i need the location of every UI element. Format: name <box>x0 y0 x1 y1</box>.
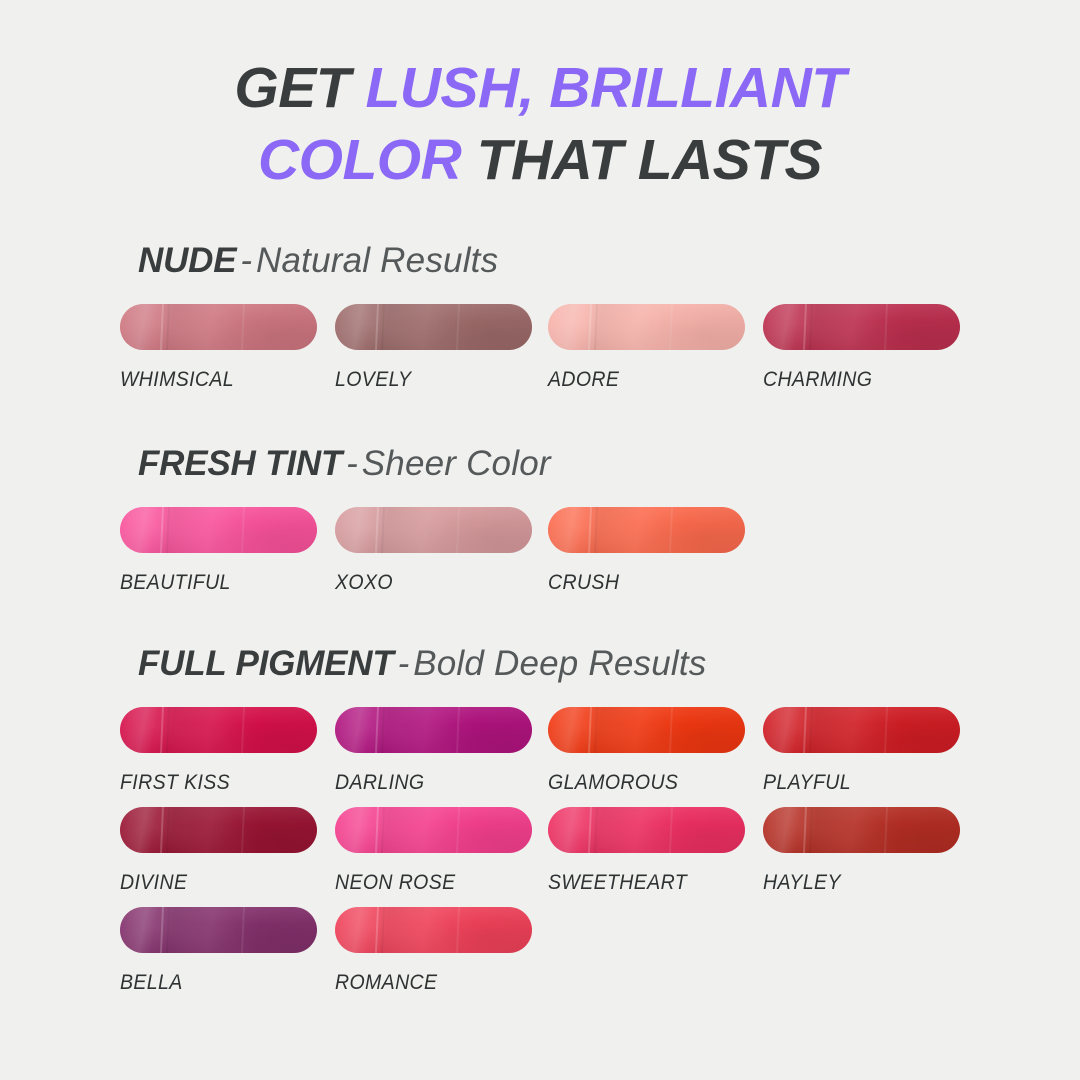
swatch-label: BEAUTIFUL <box>120 571 303 595</box>
section-title-fresh-tint: FRESH TINT <box>138 444 342 483</box>
swatch-cell-charming[interactable]: CHARMING <box>763 304 960 392</box>
section-dash-fresh-tint: - <box>342 444 362 483</box>
swatch-grid-nude: WHIMSICAL LOVELY <box>0 304 1080 404</box>
swatch-cell-playful[interactable]: PLAYFUL <box>763 707 960 795</box>
section-header-nude: NUDE-Natural Results <box>138 243 1080 278</box>
swatch-label: WHIMSICAL <box>120 368 303 392</box>
swatch-texture <box>120 907 317 953</box>
swatch-label: PLAYFUL <box>763 771 946 795</box>
swatch-label: GLAMOROUS <box>548 771 731 795</box>
swatch-texture <box>120 707 317 753</box>
swatch-chip[interactable] <box>120 907 317 953</box>
swatch-chip[interactable] <box>548 707 745 753</box>
headline-line-1: GET LUSH, BRILLIANT <box>0 52 1080 124</box>
swatch-texture <box>335 507 532 553</box>
section-header-fresh-tint: FRESH TINT-Sheer Color <box>138 446 1080 481</box>
swatch-chip[interactable] <box>120 707 317 753</box>
swatch-chip[interactable] <box>335 807 532 853</box>
swatch-texture <box>120 304 317 350</box>
swatch-texture <box>763 807 960 853</box>
swatch-chip[interactable] <box>548 507 745 553</box>
swatch-chip[interactable] <box>763 707 960 753</box>
swatch-label: SWEETHEART <box>548 871 731 895</box>
swatch-cell-lovely[interactable]: LOVELY <box>335 304 532 392</box>
swatch-label: CRUSH <box>548 571 731 595</box>
swatch-chip[interactable] <box>548 807 745 853</box>
swatch-row: FIRST KISS DARLING <box>120 707 1080 807</box>
swatch-chip[interactable] <box>335 707 532 753</box>
page-headline: GET LUSH, BRILLIANT COLOR THAT LASTS <box>0 52 1080 197</box>
swatch-label: LOVELY <box>335 368 518 392</box>
swatch-chip[interactable] <box>335 304 532 350</box>
swatch-cell-divine[interactable]: DIVINE <box>120 807 317 895</box>
swatch-cell-adore[interactable]: ADORE <box>548 304 745 392</box>
swatch-label: DARLING <box>335 771 518 795</box>
swatch-grid-full-pigment: FIRST KISS DARLING <box>0 707 1080 1007</box>
swatch-texture <box>548 507 745 553</box>
swatch-texture <box>120 507 317 553</box>
section-title-full-pigment: FULL PIGMENT <box>138 644 394 683</box>
swatch-chip[interactable] <box>120 304 317 350</box>
swatch-row: BEAUTIFUL XOXO <box>120 507 1080 607</box>
swatch-chip[interactable] <box>120 807 317 853</box>
swatch-label: XOXO <box>335 571 518 595</box>
swatch-cell-whimsical[interactable]: WHIMSICAL <box>120 304 317 392</box>
section-full-pigment: FULL PIGMENT-Bold Deep Results FIRST KIS… <box>0 646 1080 1007</box>
swatch-cell-romance[interactable]: ROMANCE <box>335 907 532 995</box>
headline-text-lush-brilliant: LUSH, BRILLIANT <box>365 56 845 120</box>
swatch-chip[interactable] <box>763 807 960 853</box>
section-nude: NUDE-Natural Results WHIMSICAL <box>0 243 1080 404</box>
section-fresh-tint: FRESH TINT-Sheer Color BEAUTIFUL <box>0 446 1080 607</box>
swatch-label: ADORE <box>548 368 731 392</box>
headline-text-get: GET <box>234 56 365 120</box>
swatch-cell-hayley[interactable]: HAYLEY <box>763 807 960 895</box>
section-desc-nude: Natural Results <box>256 241 498 280</box>
swatch-cell-darling[interactable]: DARLING <box>335 707 532 795</box>
swatch-texture <box>335 707 532 753</box>
headline-text-color: COLOR <box>258 128 477 192</box>
swatch-texture <box>548 304 745 350</box>
swatch-label: CHARMING <box>763 368 946 392</box>
swatch-row: BELLA ROMANCE <box>120 907 1080 1007</box>
swatch-chip[interactable] <box>335 507 532 553</box>
swatch-label: NEON ROSE <box>335 871 518 895</box>
swatch-texture <box>548 707 745 753</box>
headline-line-2: COLOR THAT LASTS <box>0 124 1080 196</box>
swatch-label: DIVINE <box>120 871 303 895</box>
swatch-chip[interactable] <box>548 304 745 350</box>
swatch-cell-sweetheart[interactable]: SWEETHEART <box>548 807 745 895</box>
swatch-texture <box>335 304 532 350</box>
swatch-cell-bella[interactable]: BELLA <box>120 907 317 995</box>
swatch-chip[interactable] <box>763 304 960 350</box>
section-title-nude: NUDE <box>138 241 236 280</box>
swatch-label: BELLA <box>120 971 303 995</box>
swatch-texture <box>120 807 317 853</box>
swatch-cell-beautiful[interactable]: BEAUTIFUL <box>120 507 317 595</box>
section-header-full-pigment: FULL PIGMENT-Bold Deep Results <box>138 646 1080 681</box>
section-desc-fresh-tint: Sheer Color <box>362 444 551 483</box>
swatch-chip[interactable] <box>335 907 532 953</box>
swatch-texture <box>763 304 960 350</box>
swatch-label: ROMANCE <box>335 971 518 995</box>
swatch-label: FIRST KISS <box>120 771 303 795</box>
swatch-cell-xoxo[interactable]: XOXO <box>335 507 532 595</box>
swatch-cell-glamorous[interactable]: GLAMOROUS <box>548 707 745 795</box>
swatch-texture <box>335 907 532 953</box>
swatch-label: HAYLEY <box>763 871 946 895</box>
swatch-cell-first-kiss[interactable]: FIRST KISS <box>120 707 317 795</box>
section-desc-full-pigment: Bold Deep Results <box>413 644 706 683</box>
swatch-row: DIVINE NEON ROSE <box>120 807 1080 907</box>
swatch-chip[interactable] <box>120 507 317 553</box>
section-dash-full-pigment: - <box>394 644 414 683</box>
swatch-texture <box>763 707 960 753</box>
swatch-texture <box>548 807 745 853</box>
swatch-grid-fresh-tint: BEAUTIFUL XOXO <box>0 507 1080 607</box>
swatch-cell-neon-rose[interactable]: NEON ROSE <box>335 807 532 895</box>
swatch-cell-crush[interactable]: CRUSH <box>548 507 745 595</box>
section-dash-nude: - <box>236 241 256 280</box>
swatch-row: WHIMSICAL LOVELY <box>120 304 1080 404</box>
swatch-texture <box>335 807 532 853</box>
headline-text-that-lasts: THAT LASTS <box>477 128 822 192</box>
